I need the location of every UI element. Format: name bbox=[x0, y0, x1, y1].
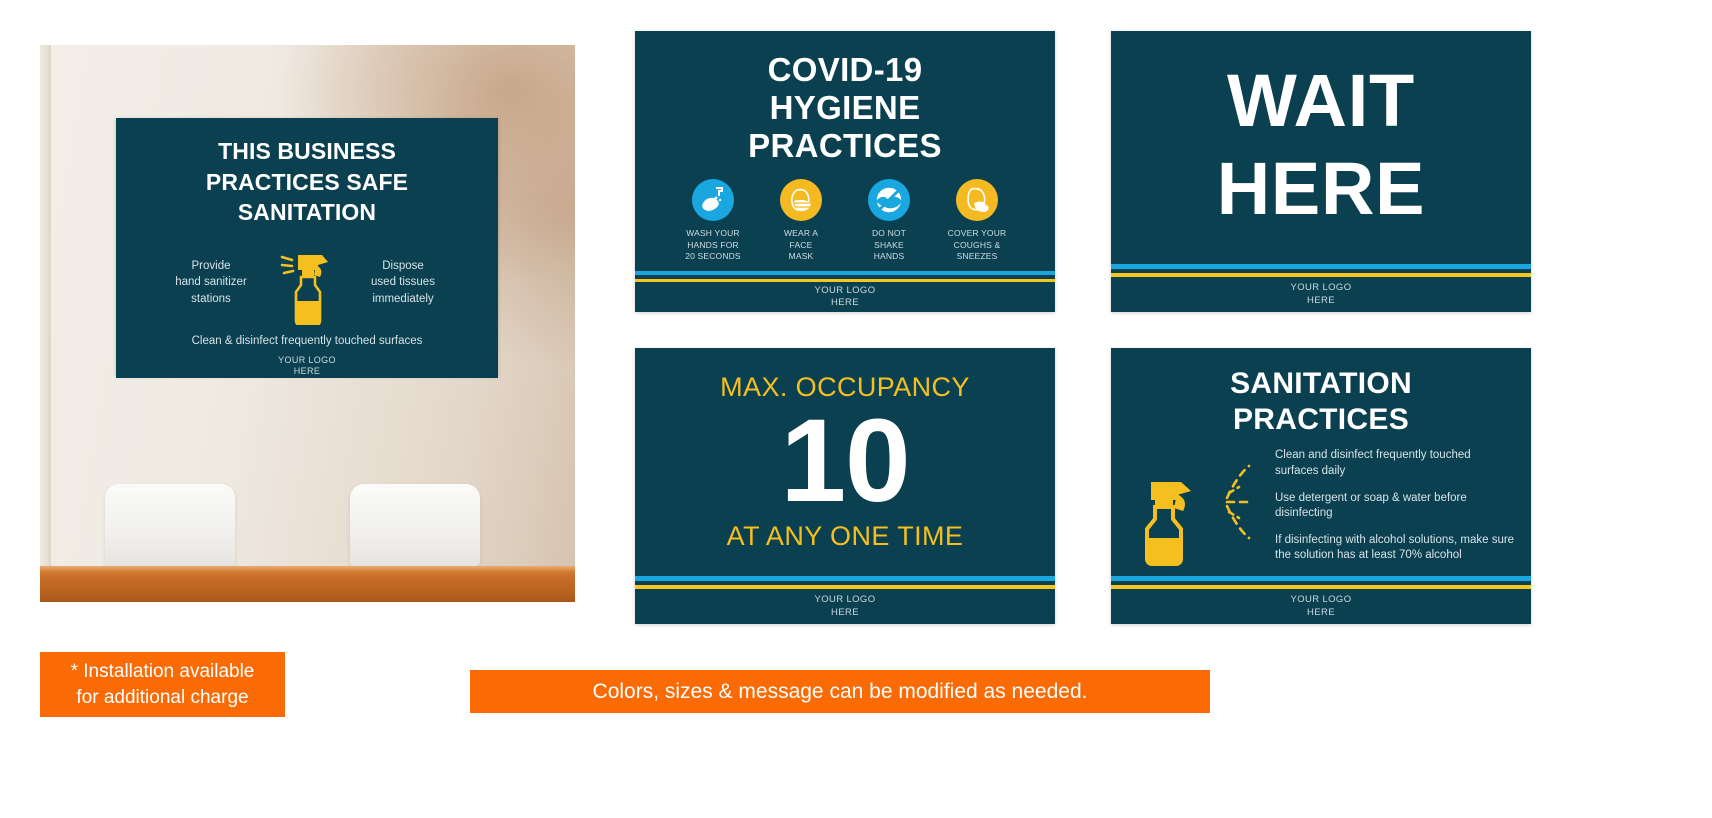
hygiene-caption-cover-cough: COVER YOUR COUGHS & SNEEZES bbox=[940, 228, 1014, 263]
mockup-sign-middle: Provide hand sanitizer stations bbox=[128, 241, 486, 325]
caption-line-1: DO NOT bbox=[852, 228, 926, 240]
right-note-line-1: Dispose bbox=[344, 258, 462, 275]
title-line-3: SANITATION bbox=[128, 197, 486, 228]
wall-mockup-photo: THIS BUSINESS PRACTICES SAFE SANITATION … bbox=[40, 45, 575, 602]
right-note-line-3: immediately bbox=[344, 291, 462, 308]
hygiene-icon-row: WASH YOUR HANDS FOR 20 SECONDS bbox=[651, 179, 1039, 263]
title-line-2: HERE bbox=[1217, 145, 1426, 232]
left-note-line-1: Provide bbox=[152, 258, 270, 275]
logo-line-1: YOUR LOGO bbox=[1291, 594, 1352, 606]
sanitation-sign-title: SANITATION PRACTICES bbox=[1125, 366, 1517, 438]
caption-line-3: SNEEZES bbox=[940, 251, 1014, 263]
wait-sign-body: WAIT HERE bbox=[1111, 31, 1531, 264]
caption-line-1: WEAR A bbox=[764, 228, 838, 240]
mockup-sign-subtext: Clean & disinfect frequently touched sur… bbox=[128, 335, 486, 347]
logo-line-2: HERE bbox=[1307, 295, 1335, 307]
occupancy-bottom-label: AT ANY ONE TIME bbox=[727, 521, 964, 552]
left-note-line-2: hand sanitizer bbox=[152, 274, 270, 291]
title-line-2: HYGIENE bbox=[651, 89, 1039, 127]
hygiene-item-wash-hands: WASH YOUR HANDS FOR 20 SECONDS bbox=[676, 179, 750, 263]
product-sheet-page: THIS BUSINESS PRACTICES SAFE SANITATION … bbox=[0, 0, 1712, 818]
occupancy-sign-body: MAX. OCCUPANCY 10 AT ANY ONE TIME bbox=[635, 348, 1055, 576]
sanitation-items-list: Clean and disinfect frequently touched s… bbox=[1275, 448, 1517, 563]
mockup-right-note: Dispose used tissues immediately bbox=[344, 258, 462, 308]
caption-line-2: HANDS FOR bbox=[676, 240, 750, 252]
logo-line-1: YOUR LOGO bbox=[1291, 282, 1352, 294]
wall-edge bbox=[40, 45, 51, 602]
caption-line-2: FACE bbox=[764, 240, 838, 252]
caption-line-1: COVER YOUR bbox=[940, 228, 1014, 240]
right-note-line-2: used tissues bbox=[344, 274, 462, 291]
install-note-line-1: * Installation available bbox=[71, 659, 255, 684]
occupancy-number: 10 bbox=[781, 405, 910, 518]
title-line-1: COVID-19 bbox=[651, 51, 1039, 89]
face-mask-icon bbox=[780, 179, 822, 221]
logo-line-2: HERE bbox=[294, 366, 320, 378]
caption-line-3: MASK bbox=[764, 251, 838, 263]
title-line-1: WAIT bbox=[1217, 57, 1426, 144]
sign-sanitation-practices: SANITATION PRACTICES bbox=[1111, 348, 1531, 624]
hygiene-caption-face-mask: WEAR A FACE MASK bbox=[764, 228, 838, 263]
logo-line-2: HERE bbox=[831, 607, 859, 619]
washing-hands-icon bbox=[692, 179, 734, 221]
caption-line-1: WASH YOUR bbox=[676, 228, 750, 240]
desk-surface bbox=[40, 566, 575, 602]
title-line-1: THIS BUSINESS bbox=[128, 136, 486, 167]
sanitation-content: Clean and disinfect frequently touched s… bbox=[1125, 446, 1517, 566]
title-line-2: PRACTICES bbox=[1125, 402, 1517, 438]
caption-line-2: COUGHS & bbox=[940, 240, 1014, 252]
install-note-line-2: for additional charge bbox=[71, 685, 255, 710]
hygiene-logo-footer: YOUR LOGO HERE bbox=[635, 282, 1055, 312]
occupancy-logo-footer: YOUR LOGO HERE bbox=[635, 589, 1055, 624]
mockup-sign-title: THIS BUSINESS PRACTICES SAFE SANITATION bbox=[128, 136, 486, 228]
spray-mist-lines-icon bbox=[1223, 446, 1269, 566]
caption-line-3: 20 SECONDS bbox=[676, 251, 750, 263]
hygiene-item-face-mask: WEAR A FACE MASK bbox=[764, 179, 838, 263]
chair-left bbox=[105, 484, 235, 566]
spray-bottle-icon bbox=[276, 241, 338, 325]
sanitation-sign-body: SANITATION PRACTICES bbox=[1111, 348, 1531, 576]
hygiene-caption-no-handshake: DO NOT SHAKE HANDS bbox=[852, 228, 926, 263]
list-item: Use detergent or soap & water before dis… bbox=[1275, 491, 1517, 521]
mockup-left-note: Provide hand sanitizer stations bbox=[152, 258, 270, 308]
caption-line-2: SHAKE bbox=[852, 240, 926, 252]
logo-line-1: YOUR LOGO bbox=[815, 594, 876, 606]
sanitation-logo-footer: YOUR LOGO HERE bbox=[1111, 589, 1531, 624]
spray-bottle-icon bbox=[1125, 446, 1217, 566]
installation-note-banner: * Installation available for additional … bbox=[40, 652, 285, 717]
hygiene-sign-title: COVID-19 HYGIENE PRACTICES bbox=[651, 51, 1039, 165]
hygiene-item-no-handshake: DO NOT SHAKE HANDS bbox=[852, 179, 926, 263]
hygiene-sign-body: COVID-19 HYGIENE PRACTICES WA bbox=[635, 31, 1055, 271]
wait-logo-footer: YOUR LOGO HERE bbox=[1111, 277, 1531, 312]
mockup-logo-footer: YOUR LOGO HERE bbox=[116, 355, 498, 378]
logo-line-1: YOUR LOGO bbox=[278, 355, 336, 367]
title-line-2: PRACTICES SAFE bbox=[128, 167, 486, 198]
mockup-sanitation-sign: THIS BUSINESS PRACTICES SAFE SANITATION … bbox=[116, 118, 498, 375]
no-handshake-icon bbox=[868, 179, 910, 221]
title-line-3: PRACTICES bbox=[651, 127, 1039, 165]
title-line-1: SANITATION bbox=[1125, 366, 1517, 402]
sign-max-occupancy: MAX. OCCUPANCY 10 AT ANY ONE TIME YOUR L… bbox=[635, 348, 1055, 624]
sign-wait-here: WAIT HERE YOUR LOGO HERE bbox=[1111, 31, 1531, 312]
chair-right bbox=[350, 484, 480, 566]
list-item: Clean and disinfect frequently touched s… bbox=[1275, 448, 1517, 478]
logo-line-2: HERE bbox=[831, 297, 859, 309]
customization-note-banner: Colors, sizes & message can be modified … bbox=[470, 670, 1210, 713]
left-note-line-3: stations bbox=[152, 291, 270, 308]
caption-line-3: HANDS bbox=[852, 251, 926, 263]
logo-line-1: YOUR LOGO bbox=[815, 285, 876, 297]
customization-note-text: Colors, sizes & message can be modified … bbox=[593, 680, 1088, 704]
cover-cough-icon bbox=[956, 179, 998, 221]
sign-covid-hygiene-practices: COVID-19 HYGIENE PRACTICES WA bbox=[635, 31, 1055, 312]
wait-sign-title: WAIT HERE bbox=[1217, 57, 1426, 232]
logo-line-2: HERE bbox=[1307, 607, 1335, 619]
hygiene-item-cover-cough: COVER YOUR COUGHS & SNEEZES bbox=[940, 179, 1014, 263]
list-item: If disinfecting with alcohol solutions, … bbox=[1275, 533, 1517, 563]
hygiene-caption-wash-hands: WASH YOUR HANDS FOR 20 SECONDS bbox=[676, 228, 750, 263]
mockup-sign-body: THIS BUSINESS PRACTICES SAFE SANITATION … bbox=[116, 118, 498, 355]
